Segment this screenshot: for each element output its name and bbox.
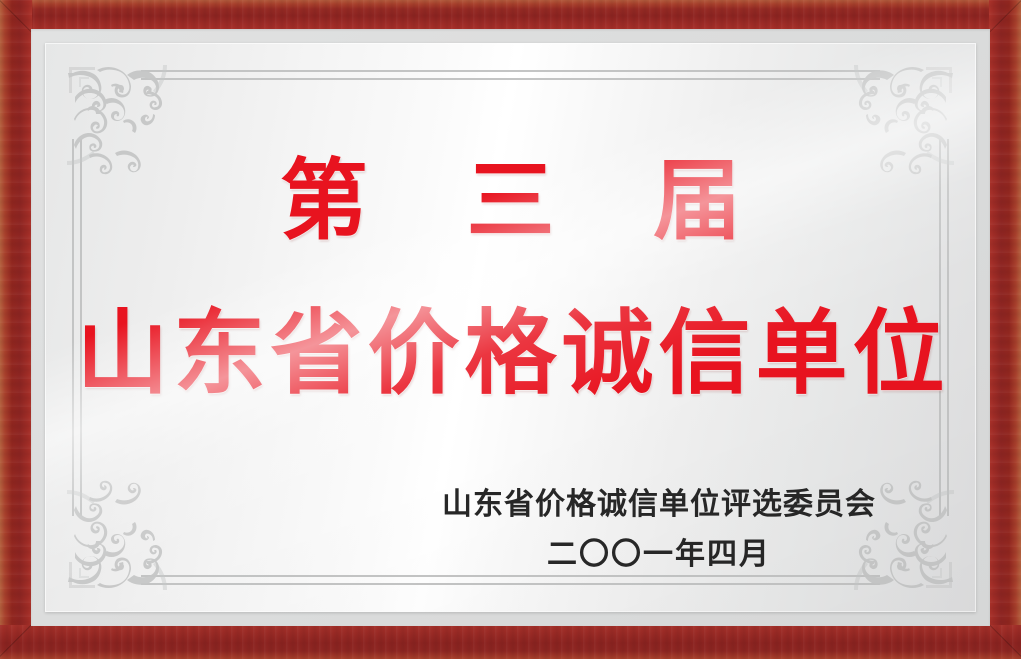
issuing-organization: 山东省价格诚信单位评选委员会 bbox=[442, 487, 876, 522]
award-name-title: 山东省价格诚信单位 bbox=[45, 307, 976, 399]
award-edition-title: 第 三 届 bbox=[45, 156, 976, 244]
award-plaque: 第 三 届 山东省价格诚信单位 山东省价格诚信单位评选委员会 二〇〇一年四月 bbox=[0, 0, 1021, 659]
frame-right-rail bbox=[989, 0, 1021, 659]
plaque-plate: 第 三 届 山东省价格诚信单位 山东省价格诚信单位评选委员会 二〇〇一年四月 bbox=[45, 43, 976, 612]
plaque-mat: 第 三 届 山东省价格诚信单位 山东省价格诚信单位评选委员会 二〇〇一年四月 bbox=[31, 29, 990, 626]
frame-left-rail bbox=[0, 0, 32, 659]
award-signature-block: 山东省价格诚信单位评选委员会 二〇〇一年四月 bbox=[434, 490, 884, 570]
award-date: 二〇〇一年四月 bbox=[434, 540, 884, 570]
frame-bottom-rail bbox=[0, 625, 1021, 659]
plaque-content: 第 三 届 山东省价格诚信单位 山东省价格诚信单位评选委员会 二〇〇一年四月 bbox=[45, 43, 976, 612]
